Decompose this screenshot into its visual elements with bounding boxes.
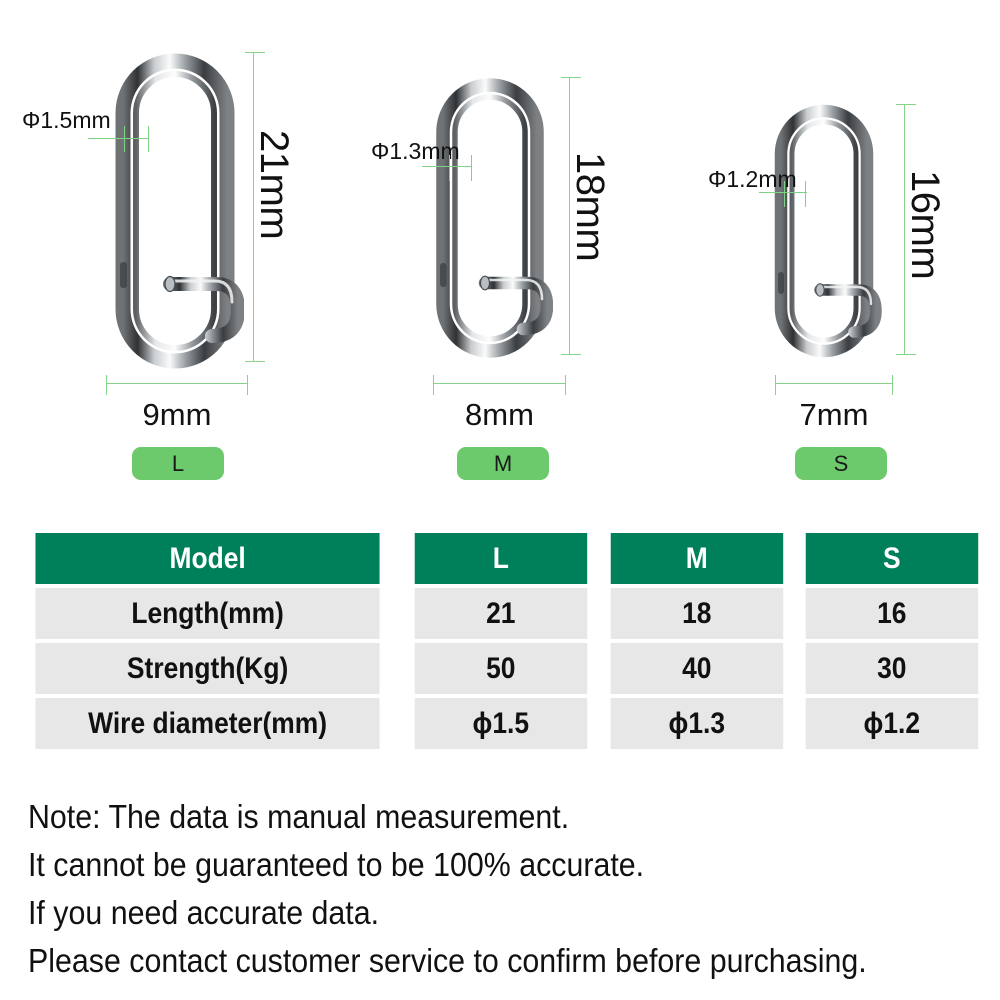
cell-wire-diameter-s: ϕ1.2 <box>806 698 978 749</box>
cell-strength-s: 30 <box>806 643 978 694</box>
dimension-line-width-s <box>775 383 893 384</box>
wire-diameter-tick-right-s <box>805 181 806 207</box>
dimension-label-width-s: 7mm <box>775 397 893 433</box>
table-row: Wire diameter(mm) ϕ1.5 ϕ1.3 ϕ1.2 <box>12 698 990 749</box>
variant-group-l: 21mm 9mm Φ1.5mm L <box>0 0 340 510</box>
row-label-wire-diameter: Wire diameter(mm) <box>35 698 379 749</box>
dimension-line-width-l <box>106 383 248 384</box>
snap-clip-illustration-m <box>433 77 553 359</box>
table-header-model: Model <box>35 533 379 584</box>
size-badge-l[interactable]: L <box>132 447 224 480</box>
specification-table: Model L M S Length(mm) 21 18 16 Strength… <box>12 529 990 753</box>
dimension-label-length-l: 21mm <box>251 130 296 239</box>
note-block: Note: The data is manual measurement. It… <box>28 793 988 985</box>
cell-strength-m: 40 <box>611 643 783 694</box>
cell-length-m: 18 <box>611 588 783 639</box>
wire-diameter-leader-s <box>759 192 807 193</box>
wire-diameter-tick-right-l <box>148 126 149 152</box>
note-line-2: It cannot be guaranteed to be 100% accur… <box>28 841 911 889</box>
dimension-label-width-m: 8mm <box>433 397 566 433</box>
snap-clip-illustration-l <box>112 52 244 370</box>
wire-diameter-label-l: Φ1.5mm <box>22 107 111 134</box>
note-line-3: If you need accurate data. <box>28 889 911 937</box>
wire-diameter-leader-m <box>422 166 472 167</box>
table-header-s: S <box>806 533 978 584</box>
wire-diameter-tick-left-m <box>449 155 450 181</box>
wire-diameter-leader-l <box>88 138 148 139</box>
variant-group-m: 18mm 8mm Φ1.3mm M <box>330 0 670 510</box>
cell-strength-l: 50 <box>415 643 587 694</box>
size-badge-m[interactable]: M <box>457 447 549 480</box>
cell-length-l: 21 <box>415 588 587 639</box>
size-badge-s[interactable]: S <box>795 447 887 480</box>
variant-group-s: 16mm 7mm Φ1.2mm S <box>667 0 1000 510</box>
row-label-strength: Strength(Kg) <box>35 643 379 694</box>
wire-diameter-tick-right-m <box>471 155 472 181</box>
cell-wire-diameter-l: ϕ1.5 <box>415 698 587 749</box>
product-diagram: 21mm 9mm Φ1.5mm L <box>0 0 1000 510</box>
note-line-4: Please contact customer service to confi… <box>28 937 911 985</box>
table-header-l: L <box>415 533 587 584</box>
wire-diameter-tick-left-l <box>124 126 125 152</box>
dimension-label-width-l: 9mm <box>106 397 248 433</box>
dimension-line-width-m <box>433 383 566 384</box>
dimension-label-length-m: 18mm <box>567 152 612 261</box>
snap-clip-illustration-s <box>772 104 882 358</box>
table-header-row: Model L M S <box>12 533 990 584</box>
wire-diameter-tick-left-s <box>784 181 785 207</box>
dimension-label-length-s: 16mm <box>902 170 947 279</box>
note-line-1: Note: The data is manual measurement. <box>28 793 911 841</box>
table-row: Strength(Kg) 50 40 30 <box>12 643 990 694</box>
cell-length-s: 16 <box>806 588 978 639</box>
table-row: Length(mm) 21 18 16 <box>12 588 990 639</box>
cell-wire-diameter-m: ϕ1.3 <box>611 698 783 749</box>
table-header-m: M <box>611 533 783 584</box>
size-chart-page: 21mm 9mm Φ1.5mm L <box>0 0 1000 1000</box>
wire-diameter-label-m: Φ1.3mm <box>371 138 460 165</box>
row-label-length: Length(mm) <box>35 588 379 639</box>
